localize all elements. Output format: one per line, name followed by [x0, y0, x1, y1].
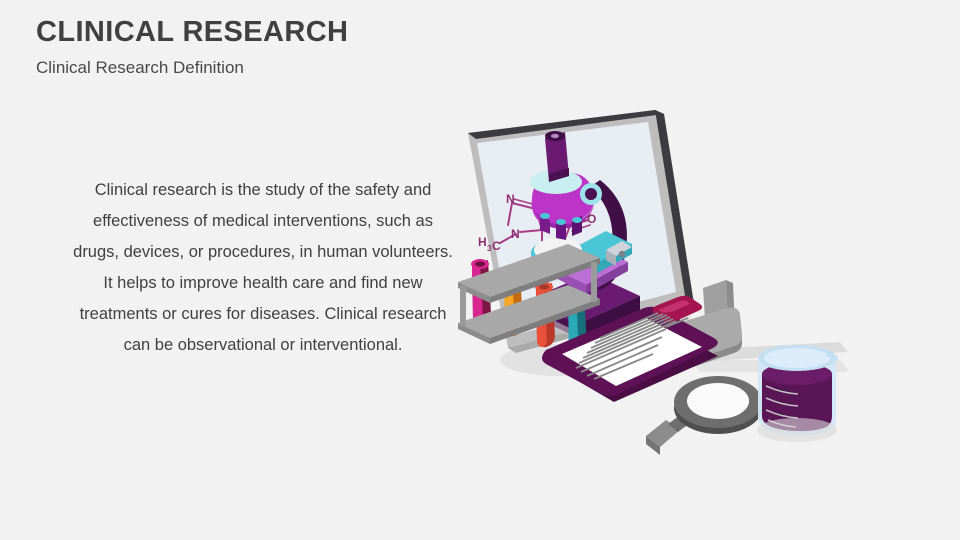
definition-paragraph: Clinical research is the study of the sa…	[68, 175, 458, 361]
test-tube-1-mouth	[475, 261, 485, 266]
page-title: CLINICAL RESEARCH	[36, 16, 348, 49]
slide-canvas: CLINICAL RESEARCH Clinical Research Defi…	[0, 0, 960, 540]
atom-label-n-lower-left: N	[511, 227, 520, 241]
microscope-knob	[619, 251, 625, 257]
beaker	[757, 345, 838, 442]
atom-label-h3c-c: C	[492, 239, 501, 253]
magnifying-glass	[646, 376, 762, 455]
microscope-eyepiece-glass	[551, 134, 559, 138]
objective-cap-3	[572, 217, 582, 223]
magnifier-lens-gloss	[687, 383, 749, 419]
atom-label-n-upper-left: N	[506, 192, 515, 206]
clinical-research-illustration: N N N N O O CH 3 H 3 C CH 3	[450, 110, 870, 480]
atom-label-h3c-h: H	[478, 235, 487, 249]
objective-cap-2	[556, 219, 566, 225]
slide-header: CLINICAL RESEARCH Clinical Research Defi…	[36, 16, 348, 78]
microscope-focus-wheel-hub	[585, 188, 597, 200]
test-tube-3-mouth	[539, 284, 549, 289]
objective-cap-1	[540, 213, 550, 219]
rack-leg-right	[591, 262, 597, 302]
page-subtitle: Clinical Research Definition	[36, 58, 348, 78]
rack-leg-left	[460, 286, 466, 326]
beaker-mouth	[764, 348, 830, 368]
beaker-base-shadow	[757, 418, 837, 442]
